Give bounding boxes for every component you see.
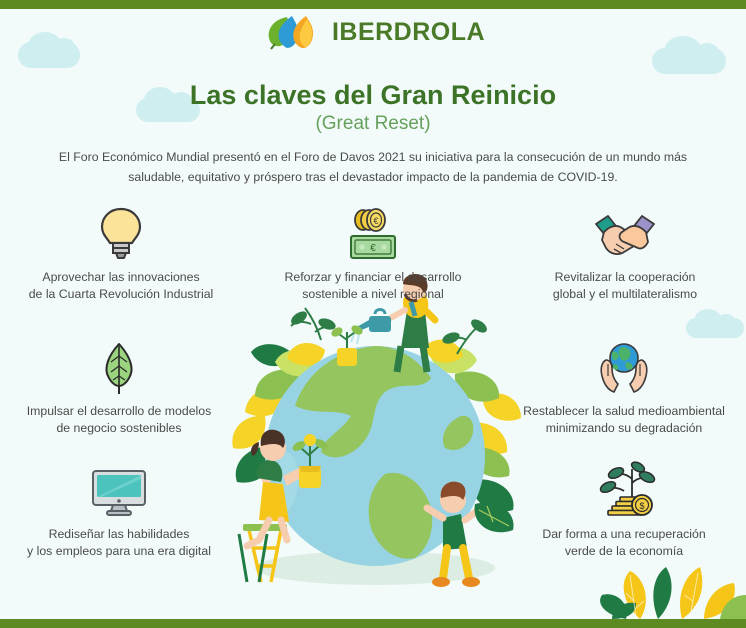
coins-with-plant-icon: $	[505, 463, 743, 517]
key-item-green-recovery: $ Dar forma a una recuperación verde de …	[505, 463, 743, 561]
intro-paragraph: El Foro Económico Mundial presentó en el…	[43, 148, 703, 188]
brand-logo[interactable]: IBERDROLA	[0, 14, 746, 50]
key-item-innovations: Aprovechar las innovaciones de la Cuarta…	[2, 206, 240, 304]
key-item-caption: Reforzar y financiar el desarrollo soste…	[254, 269, 492, 304]
key-item-caption: Revitalizar la cooperación global y el m…	[506, 269, 744, 304]
svg-text:€: €	[373, 216, 378, 226]
hands-holding-globe-icon	[505, 340, 743, 394]
key-item-caption: Rediseñar las habilidades y los empleos …	[0, 526, 238, 561]
leaf-icon	[0, 340, 238, 394]
desktop-monitor-icon	[0, 463, 238, 517]
iberdrola-leaf-flame-logo-icon	[261, 14, 323, 50]
key-item-caption: Impulsar el desarrollo de modelos de neg…	[0, 403, 238, 438]
page-title: Las claves del Gran Reinicio	[0, 80, 746, 111]
page-subtitle: (Great Reset)	[0, 113, 746, 135]
brand-name: IBERDROLA	[332, 18, 485, 47]
earth-with-people-and-plants-illustration	[225, 296, 525, 592]
key-item-environmental-health: Restablecer la salud medioambiental mini…	[505, 340, 743, 438]
key-item-caption: Restablecer la salud medioambiental mini…	[505, 403, 743, 438]
lightbulb-icon	[2, 206, 240, 260]
bottom-border-bar	[0, 619, 746, 628]
handshake-icon	[506, 206, 744, 260]
svg-text:$: $	[639, 501, 644, 511]
key-item-cooperation: Revitalizar la cooperación global y el m…	[506, 206, 744, 304]
key-item-business-models: Impulsar el desarrollo de modelos de neg…	[0, 340, 238, 438]
infographic-page: IBERDROLA Las claves del Gran Reinicio (…	[0, 0, 746, 628]
cloud-top-right	[652, 48, 726, 74]
corner-foliage-decoration	[596, 557, 746, 619]
svg-text:€: €	[370, 243, 376, 254]
top-border-bar	[0, 0, 746, 9]
key-item-financing: € € Reforzar y financiar el desarrollo s…	[254, 206, 492, 304]
key-item-digital-skills: Rediseñar las habilidades y los empleos …	[0, 463, 238, 561]
key-item-caption: Aprovechar las innovaciones de la Cuarta…	[2, 269, 240, 304]
coins-and-banknote-icon: € €	[254, 206, 492, 260]
cloud-mid-right	[686, 318, 744, 338]
key-item-caption: Dar forma a una recuperación verde de la…	[505, 526, 743, 561]
